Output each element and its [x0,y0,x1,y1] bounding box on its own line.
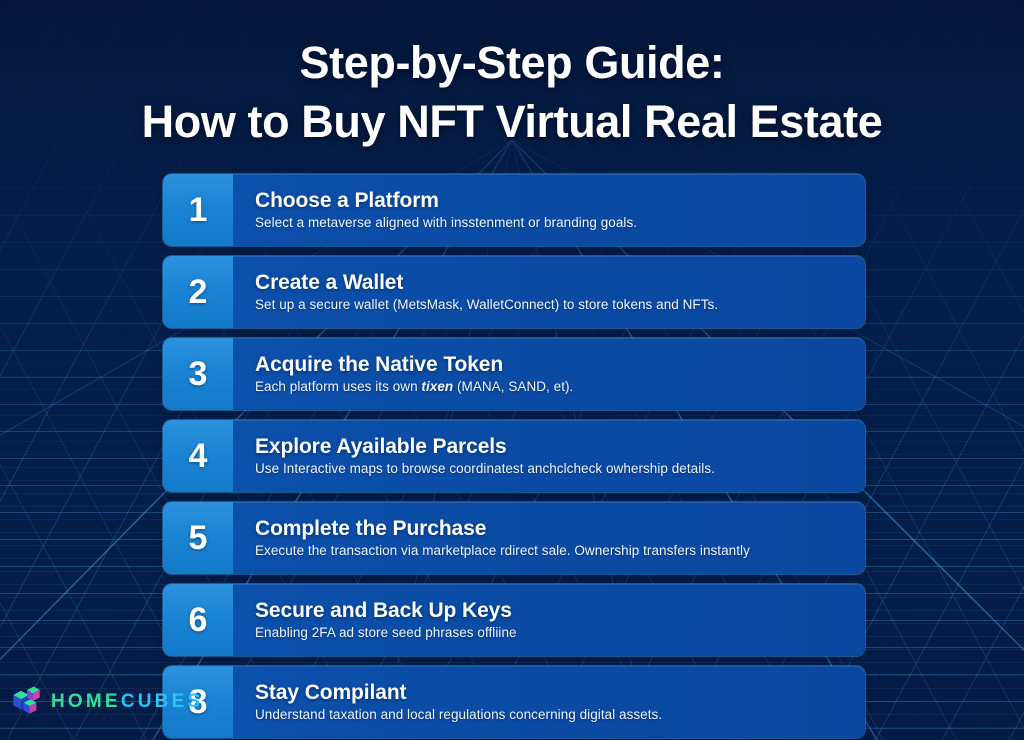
step-row[interactable]: 8 Stay Compilant Understand taxation and… [163,666,865,738]
step-subtitle: Understand taxation and local regulation… [255,707,849,723]
step-title: Explore Ayailable Parcels [255,435,849,459]
step-subtitle-prefix: Each platform uses its own [255,379,421,394]
page-title-line-1: Step-by-Step Guide: [0,34,1024,93]
step-subtitle: Enabling 2FA ad store seed phrases offli… [255,625,849,641]
step-title: Secure and Back Up Keys [255,599,849,623]
step-subtitle: Set up a secure wallet (MetsMask, Wallet… [255,297,849,313]
step-number-badge: 3 [163,338,233,410]
page-title: Step-by-Step Guide: How to Buy NFT Virtu… [0,34,1024,151]
step-content: Explore Ayailable Parcels Use Interactiv… [233,420,865,492]
step-title: Stay Compilant [255,681,849,705]
step-content: Acquire the Native Token Each platform u… [233,338,865,410]
brand-wordmark: HOME CUBES [51,692,203,711]
step-number-badge: 1 [163,174,233,246]
step-subtitle: Select a metaverse aligned with insstenm… [255,215,849,231]
step-subtitle: Use Interactive maps to browse coordinat… [255,461,849,477]
brand-word-cubes: CUBES [121,692,204,711]
step-row[interactable]: 2 Create a Wallet Set up a secure wallet… [163,256,865,328]
step-content: Stay Compilant Understand taxation and l… [233,666,865,738]
step-title: Complete the Purchase [255,517,849,541]
step-subtitle-suffix: (MANA, SAND, et). [453,379,573,394]
step-title: Create a Wallet [255,271,849,295]
step-content: Complete the Purchase Execute the transa… [233,502,865,574]
step-number-badge: 4 [163,420,233,492]
brand-word-home: HOME [51,692,121,711]
step-content: Choose a Platform Select a metaverse ali… [233,174,865,246]
step-row[interactable]: 6 Secure and Back Up Keys Enabling 2FA a… [163,584,865,656]
page-title-line-2: How to Buy NFT Virtual Real Estate [0,93,1024,152]
step-content: Create a Wallet Set up a secure wallet (… [233,256,865,328]
brand-logo: HOME CUBES [10,684,203,718]
step-title: Acquire the Native Token [255,353,849,377]
isometric-cube-icon [10,684,44,718]
step-title: Choose a Platform [255,189,849,213]
step-number-badge: 5 [163,502,233,574]
steps-list: 1 Choose a Platform Select a metaverse a… [163,174,865,738]
step-subtitle-emphasis: tixen [421,379,453,394]
step-number-badge: 2 [163,256,233,328]
step-subtitle: Each platform uses its own tixen (MANA, … [255,379,849,395]
step-row[interactable]: 1 Choose a Platform Select a metaverse a… [163,174,865,246]
step-row[interactable]: 4 Explore Ayailable Parcels Use Interact… [163,420,865,492]
infographic-poster: Step-by-Step Guide: How to Buy NFT Virtu… [0,0,1024,740]
step-subtitle: Execute the transaction via marketplace … [255,543,849,559]
step-row[interactable]: 5 Complete the Purchase Execute the tran… [163,502,865,574]
step-row[interactable]: 3 Acquire the Native Token Each platform… [163,338,865,410]
step-content: Secure and Back Up Keys Enabling 2FA ad … [233,584,865,656]
step-number-badge: 6 [163,584,233,656]
